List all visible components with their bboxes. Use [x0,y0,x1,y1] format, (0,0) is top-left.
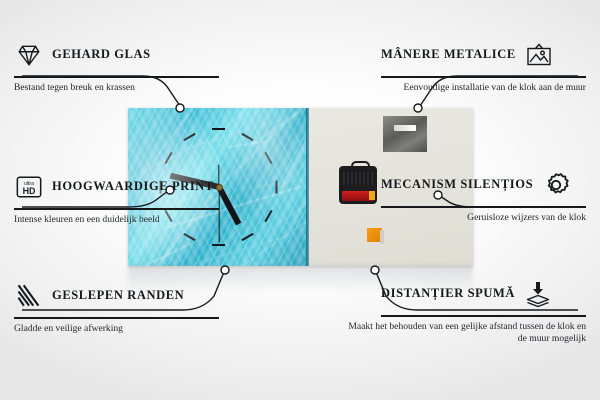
clock-tick [183,133,195,141]
feature-title: HOOGWAARDIGE PRINT [52,180,214,194]
feather-streak [205,108,301,147]
feather-streak [183,117,284,150]
foam-spacer-icon [523,279,553,309]
feature-mecanism-silentios: MECANISM SILENȚIOS Geruisloze wijzers va… [381,166,586,224]
feature-subtitle: Bestand tegen breuk en krassen [14,82,219,94]
feather-streak [214,111,298,192]
clock-tick [276,181,278,194]
feature-rule [381,315,586,317]
feather-streak [130,242,192,266]
clock-tick [164,152,172,164]
feature-distantier-spuma: DISTANȚIER SPUMĂ Maakt het behouden van … [381,275,586,345]
feature-title: GEHARD GLAS [52,48,151,62]
picture-hanger-icon [524,40,554,70]
gear-icon [541,170,571,200]
feature-subtitle: Geruisloze wijzers van de klok [381,212,586,224]
feature-geslepen-randen: GESLEPEN RANDEN Gladde en veilige afwerk… [14,277,219,335]
feature-title: GESLEPEN RANDEN [52,289,184,303]
feature-rule [14,317,219,319]
clock-tick [265,152,273,164]
feature-subtitle: Gladde en veilige afwerking [14,323,219,335]
feather-streak [174,234,293,266]
clock-tick [265,210,273,222]
mechanism-bail [351,161,370,170]
metal-hanger [383,116,427,152]
feather-streak [267,144,309,231]
feature-rule [381,76,586,78]
feather-streak [161,108,209,150]
feather-streak [258,159,300,189]
infographic-canvas: GEHARD GLAS Bestand tegen breuk en krass… [0,0,600,400]
foam-spacer [367,228,382,242]
mechanism-grill [343,172,373,185]
feature-hoogwaardige-print: ultra HD HOOGWAARDIGE PRINT Intense kleu… [14,168,219,226]
diamond-icon [14,40,44,70]
ultra-hd-icon: ultra HD [14,172,44,202]
feature-gehard-glas: GEHARD GLAS Bestand tegen breuk en krass… [14,36,219,94]
feature-rule [14,208,219,210]
clock-tick [241,233,253,241]
clock-tick [212,128,225,130]
clock-mechanism [339,166,377,204]
feather-streak [227,140,268,147]
feather-streak [271,108,309,144]
feature-title: DISTANȚIER SPUMĂ [381,287,515,301]
feature-rule [14,76,219,78]
beveled-edges-icon [14,281,44,311]
feather-streak [280,118,309,188]
clock-tick [212,244,225,246]
hanger-slot [394,125,416,131]
feature-title: MECANISM SILENȚIOS [381,178,533,192]
clock-tick [183,233,195,241]
clock-tick [241,133,253,141]
feature-subtitle: Eenvoudige installatie van de klok aan d… [381,82,586,94]
battery [342,191,374,201]
feather-streak [249,108,307,147]
feature-subtitle: Intense kleuren en een duidelijk beeld [14,214,219,226]
feature-title: MÂNERE METALICE [381,48,516,62]
svg-text:HD: HD [23,186,36,196]
battery-terminal [369,191,375,200]
feature-subtitle: Maakt het behouden van een gelijke afsta… [346,321,586,345]
feature-rule [381,206,586,208]
feather-streak [240,217,309,266]
clock-hour-hand [216,186,241,226]
feather-streak [236,169,309,189]
feature-manere-metalice: MÂNERE METALICE Eenvoudige installatie v… [381,36,586,94]
